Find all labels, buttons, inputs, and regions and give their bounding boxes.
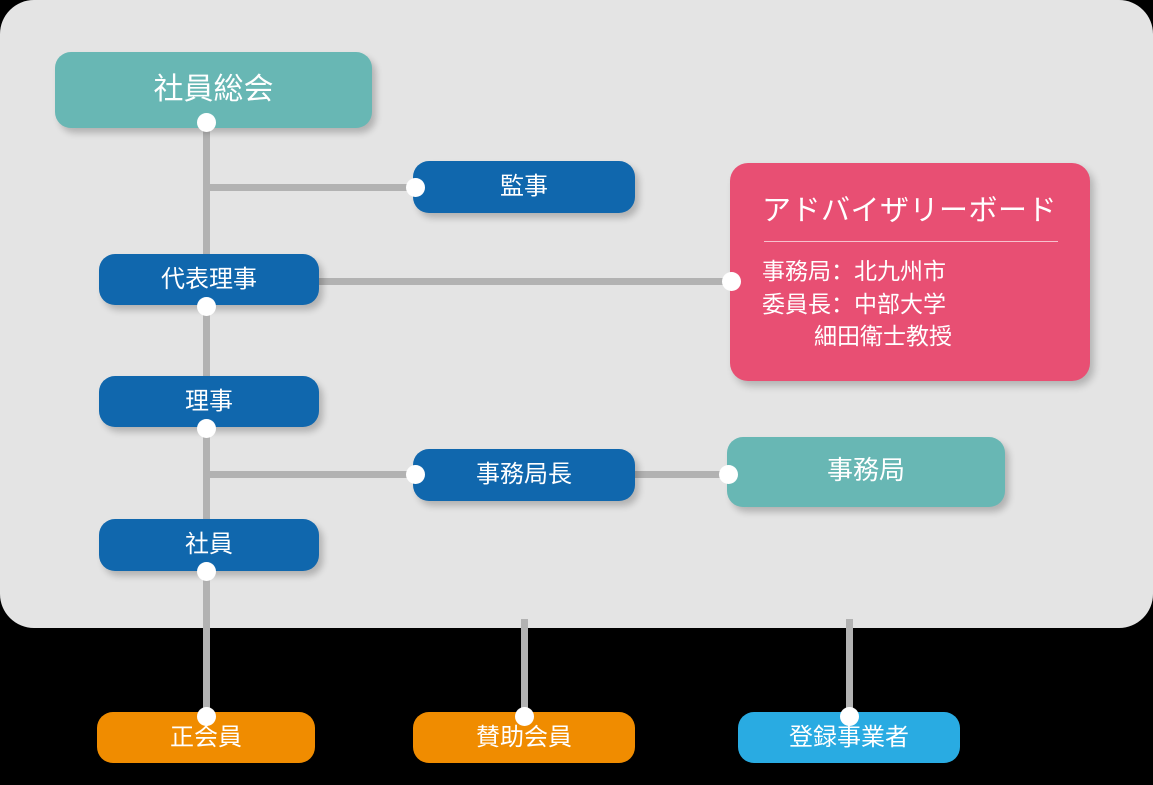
connector-to-auditor [203, 184, 425, 191]
node-secretariat[interactable]: 事務局 [727, 437, 1005, 507]
node-director-label: 理事 [185, 388, 233, 416]
connector-to-secretary-general [203, 471, 425, 478]
node-representative-director-label: 代表理事 [161, 266, 257, 294]
node-supporting-member-label: 賛助会員 [476, 724, 572, 752]
org-chart-diagram: 社員総会 監事 代表理事 理事 事務局長 社員 事務局 正会員 賛助会員 登録事… [0, 0, 1153, 785]
advisory-board-card[interactable]: アドバイザリーボード 事務局：北九州市 委員長：中部大学 細田衛士教授 [730, 163, 1090, 381]
advisory-board-line-chair: 委員長：中部大学 [762, 289, 1060, 322]
dot-member [197, 562, 216, 581]
dot-supporting-member [515, 707, 534, 726]
node-registered-business-label: 登録事業者 [789, 724, 909, 752]
connector-to-advisory-board [315, 278, 740, 285]
node-auditor-label: 監事 [500, 173, 548, 201]
advisory-board-divider [764, 241, 1058, 242]
advisory-board-line-secretariat: 事務局：北九州市 [762, 256, 1060, 289]
dot-auditor [406, 178, 425, 197]
advisory-board-title: アドバイザリーボード [762, 187, 1060, 241]
dot-general-meeting [197, 113, 216, 132]
dot-secretariat [719, 465, 738, 484]
dot-advisory-board [722, 272, 741, 291]
dot-secretary-general [406, 465, 425, 484]
node-regular-member-label: 正会員 [170, 724, 242, 752]
node-general-meeting-label: 社員総会 [154, 73, 274, 108]
node-auditor[interactable]: 監事 [413, 161, 635, 213]
dot-registered-business [840, 707, 859, 726]
node-secretary-general-label: 事務局長 [476, 461, 572, 489]
node-member-label: 社員 [185, 531, 233, 559]
dot-representative-director [197, 297, 216, 316]
dot-director [197, 419, 216, 438]
node-secretariat-label: 事務局 [827, 457, 905, 487]
advisory-board-line-chair-name: 細田衛士教授 [762, 321, 1060, 354]
node-secretary-general[interactable]: 事務局長 [413, 449, 635, 501]
dot-regular-member [197, 707, 216, 726]
